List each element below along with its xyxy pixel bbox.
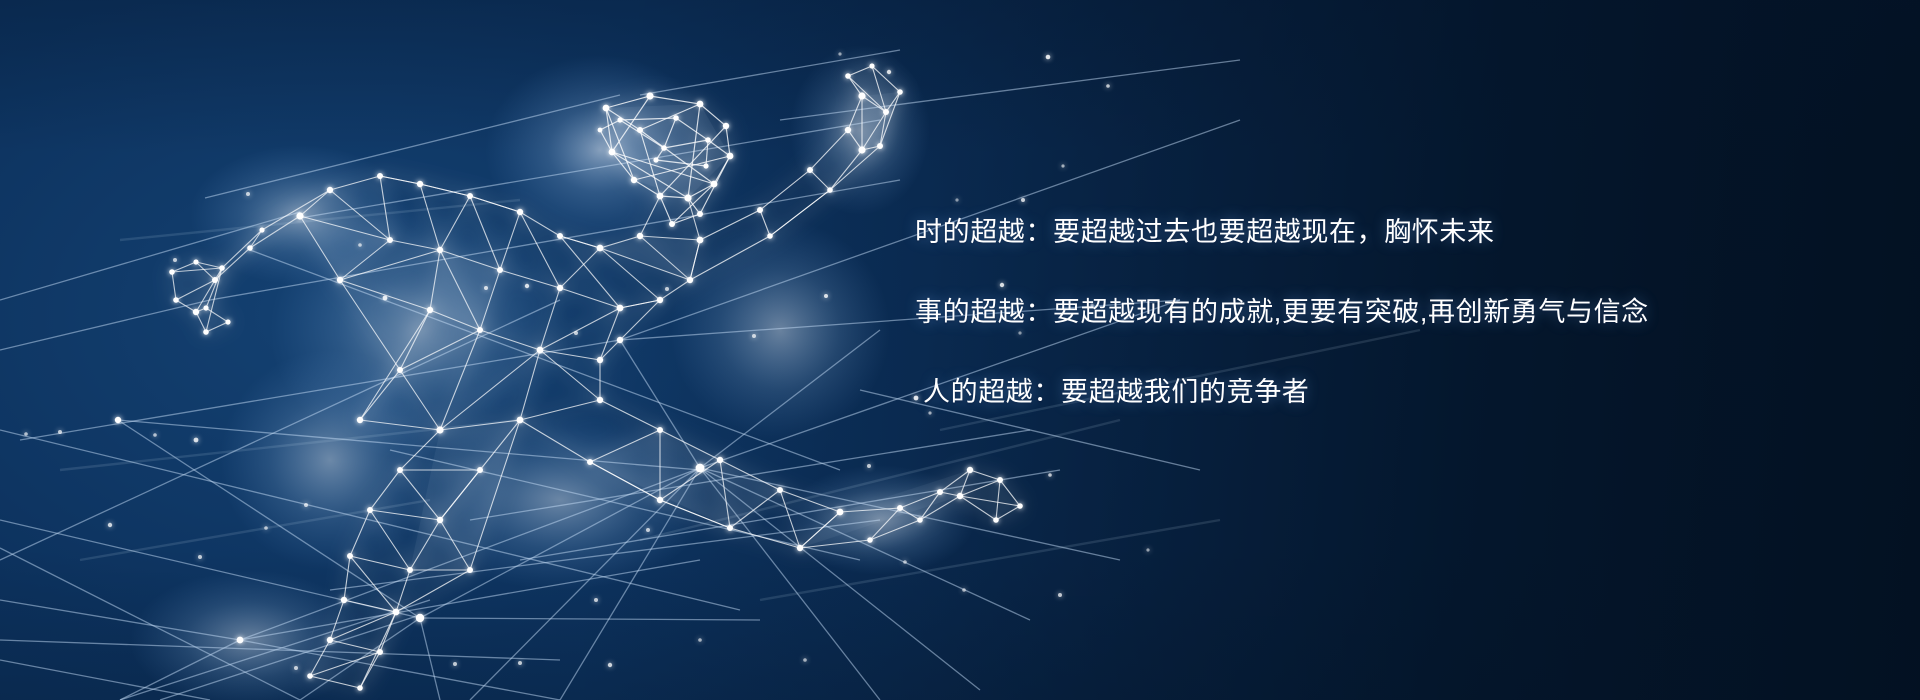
tagline-people: 人的超越：要超越我们的竞争者 bbox=[923, 352, 1775, 432]
tagline-block: 时的超越：要超越过去也要超越现在，胸怀未来 事的超越：要超越现有的成就,更要有突… bbox=[915, 192, 1775, 432]
hero-banner: 时的超越：要超越过去也要超越现在，胸怀未来 事的超越：要超越现有的成就,更要有突… bbox=[0, 0, 1920, 700]
tagline-time: 时的超越：要超越过去也要超越现在，胸怀未来 bbox=[915, 192, 1775, 272]
tagline-matter: 事的超越：要超越现有的成就,更要有突破,再创新勇气与信念 bbox=[915, 272, 1775, 352]
figure-glow-halos bbox=[130, 45, 975, 700]
